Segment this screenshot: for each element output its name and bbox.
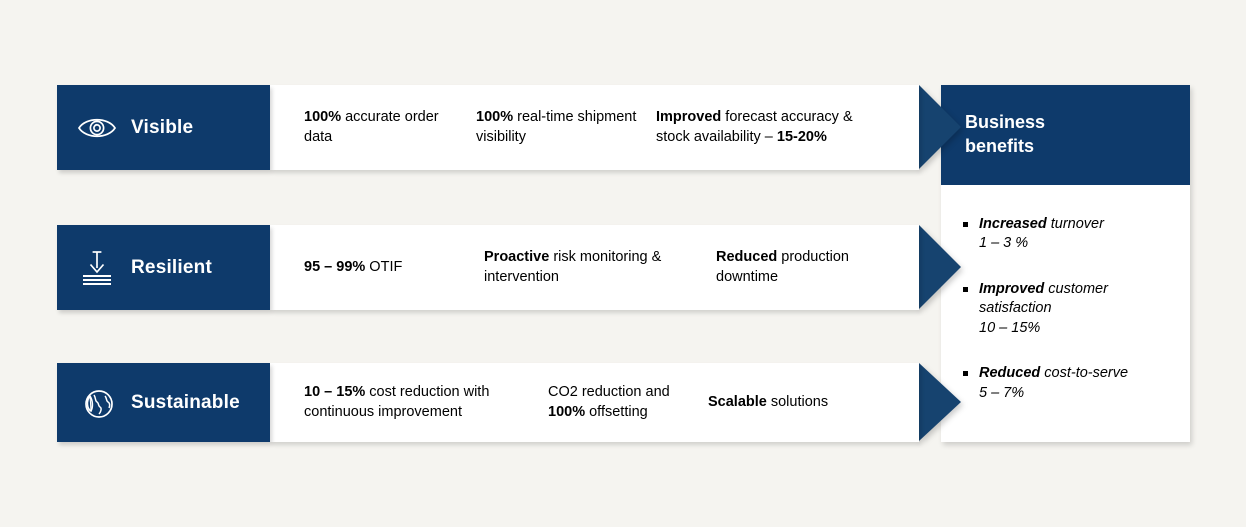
pillar-name-resilient: Resilient: [131, 257, 212, 279]
chevron-arrow-icon: [919, 363, 961, 441]
business-benefits-panel: Business benefits Increased turnover 1 –…: [941, 85, 1190, 442]
benefits-list: Increased turnover 1 – 3 % Improved cust…: [941, 185, 1190, 403]
metric-tail: 15-20%: [777, 129, 827, 145]
metric-lead: 100%: [476, 109, 513, 125]
slide-canvas: Visible 100% accurate order data 100% re…: [0, 0, 1246, 527]
metric-cell: 10 – 15% cost reduction with continuous …: [304, 383, 548, 421]
pillar-row-visible: Visible 100% accurate order data 100% re…: [57, 85, 919, 170]
pillar-body-visible: 100% accurate order data 100% real-time …: [270, 85, 919, 170]
benefit-lead: Improved: [979, 281, 1044, 297]
pillar-label-resilient[interactable]: Resilient: [57, 225, 270, 310]
metric-lead: 95 – 99%: [304, 259, 365, 275]
metric-rest: solutions: [767, 394, 828, 410]
chevron-arrow-icon: [919, 225, 961, 309]
metric-cell: Improved forecast accuracy & stock avail…: [656, 108, 906, 146]
chevron-arrow-icon: [919, 85, 961, 169]
business-benefits-header: Business benefits: [941, 85, 1190, 185]
pillar-name-sustainable: Sustainable: [131, 392, 240, 414]
benefit-rest: turnover: [1047, 216, 1104, 232]
metric-rest: CO2 reduction and: [548, 384, 670, 400]
metric-lead: Improved: [656, 109, 721, 125]
benefit-value: 5 – 7%: [979, 384, 1174, 403]
pillar-label-visible[interactable]: Visible: [57, 85, 270, 170]
globe-leaf-icon: [77, 383, 117, 423]
benefit-rest: cost-to-serve: [1040, 365, 1128, 381]
metric-tail: 100%: [548, 404, 585, 420]
metric-cell: Proactive risk monitoring & intervention: [484, 248, 716, 286]
shock-absorber-icon: [77, 248, 117, 288]
metric-cell: 95 – 99% OTIF: [304, 258, 484, 277]
pillar-name-visible: Visible: [131, 117, 193, 139]
metric-cell: 100% real-time shipment visibility: [476, 108, 656, 146]
metric-lead: Scalable: [708, 394, 767, 410]
benefit-value: 10 – 15%: [979, 319, 1174, 338]
metric-cell: Scalable solutions: [708, 393, 888, 412]
metric-lead: Reduced: [716, 249, 777, 265]
pillar-row-resilient: Resilient 95 – 99% OTIF Proactive risk m…: [57, 225, 919, 310]
pillar-body-sustainable: 10 – 15% cost reduction with continuous …: [270, 363, 919, 442]
metric-tail2: offsetting: [585, 404, 648, 420]
benefits-title-line1: Business: [965, 111, 1190, 135]
list-item: Increased turnover 1 – 3 %: [963, 215, 1174, 254]
pillar-body-resilient: 95 – 99% OTIF Proactive risk monitoring …: [270, 225, 919, 310]
metric-cell: CO2 reduction and 100% offsetting: [548, 383, 708, 421]
benefits-title-line2: benefits: [965, 135, 1190, 159]
benefit-value: 1 – 3 %: [979, 234, 1174, 253]
metric-lead: 100%: [304, 109, 341, 125]
metric-lead: 10 – 15%: [304, 384, 365, 400]
list-item: Reduced cost-to-serve 5 – 7%: [963, 364, 1174, 403]
pillar-label-sustainable[interactable]: Sustainable: [57, 363, 270, 442]
metric-cell: Reduced production downtime: [716, 248, 916, 286]
benefit-lead: Reduced: [979, 365, 1040, 381]
metric-cell: 100% accurate order data: [304, 108, 476, 146]
metric-lead: Proactive: [484, 249, 549, 265]
eye-icon: [77, 108, 117, 148]
metric-rest: OTIF: [365, 259, 402, 275]
pillar-row-sustainable: Sustainable 10 – 15% cost reduction with…: [57, 363, 919, 442]
benefit-lead: Increased: [979, 216, 1047, 232]
list-item: Improved customer satisfaction 10 – 15%: [963, 280, 1174, 338]
